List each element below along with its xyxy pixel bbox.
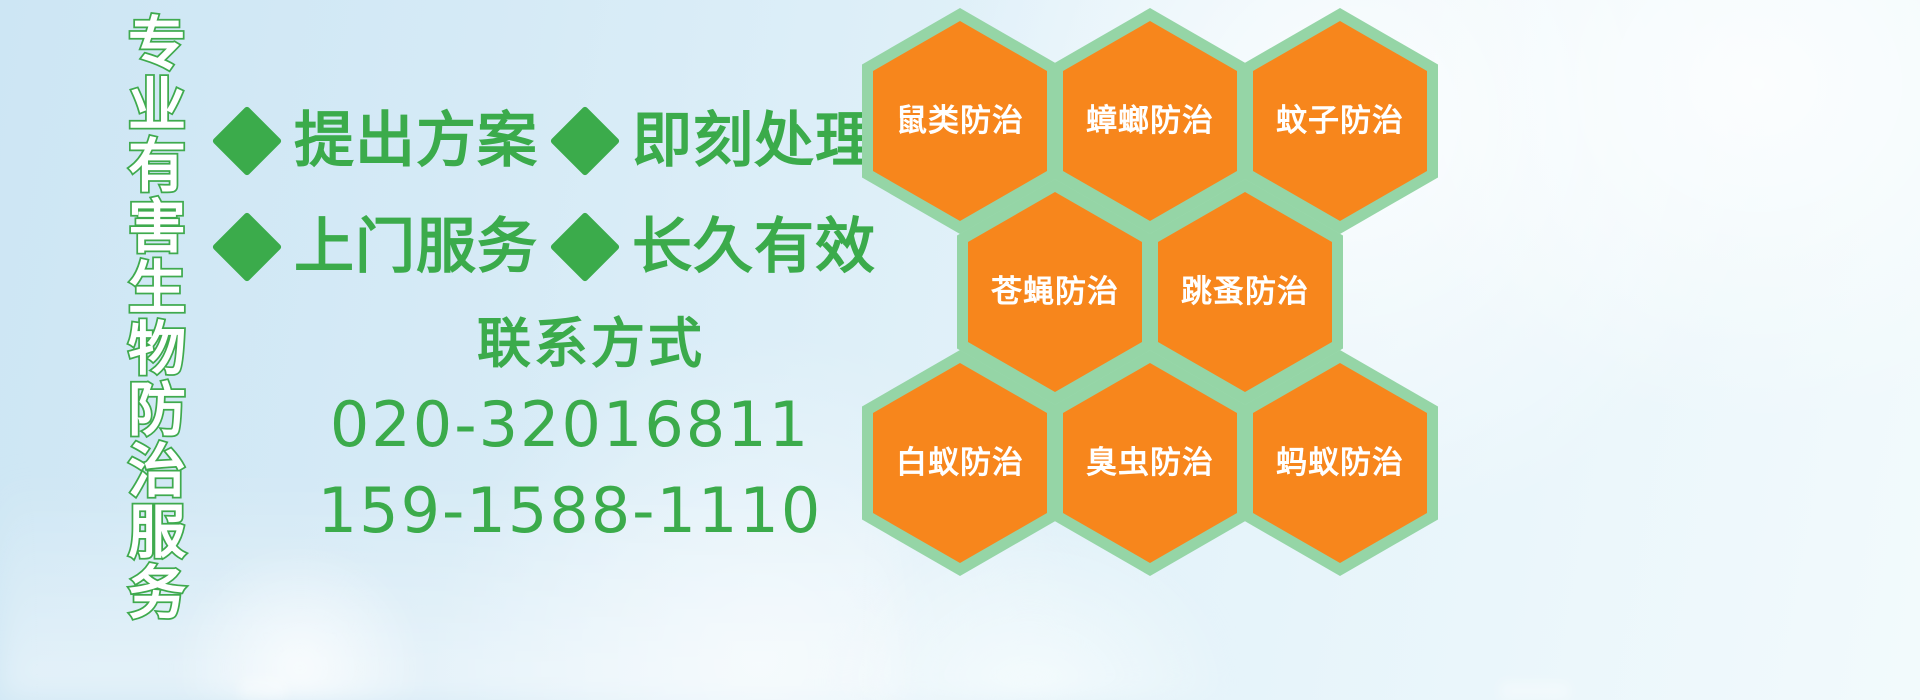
vertical-headline-char: 物: [128, 319, 186, 380]
feature-list: 提出方案 即刻处理 上门服务 长久有效: [222, 88, 882, 300]
vertical-headline: 专 业 有 害 生 物 防 治 服 务: [106, 14, 208, 574]
feature-row: 上门服务 长久有效: [222, 194, 882, 300]
feature-label: 长久有效: [632, 217, 876, 277]
contact-title: 联系方式: [222, 306, 882, 382]
vertical-headline-char: 务: [128, 563, 186, 624]
vertical-headline-char: 专: [128, 14, 186, 75]
vertical-headline-char: 防: [128, 380, 186, 441]
contact-phone-mobile[interactable]: 159-1588-1110: [222, 468, 882, 554]
hex-label: 蟑螂防治: [1052, 104, 1248, 138]
hex-label: 蚂蚁防治: [1242, 446, 1438, 480]
feature-item-door-to-door-service: 上门服务: [222, 217, 538, 277]
diamond-bullet-icon: [212, 106, 283, 177]
feature-label: 上门服务: [294, 217, 538, 277]
feature-item-propose-plan: 提出方案: [222, 111, 538, 171]
vertical-headline-char: 业: [128, 75, 186, 136]
hex-label: 跳蚤防治: [1147, 275, 1343, 309]
contact-block: 联系方式 020-32016811 159-1588-1110: [222, 306, 882, 554]
hex-label: 苍蝇防治: [957, 275, 1153, 309]
hex-label: 蚊子防治: [1242, 104, 1438, 138]
feature-row: 提出方案 即刻处理: [222, 88, 882, 194]
vertical-headline-char: 有: [128, 136, 186, 197]
hex-service-bedbug-control[interactable]: 臭虫防治: [1052, 350, 1248, 576]
feature-item-immediate-handling: 即刻处理: [560, 111, 876, 171]
vertical-headline-char: 害: [128, 197, 186, 258]
vertical-headline-char: 治: [128, 441, 186, 502]
vertical-headline-char: 服: [128, 502, 186, 563]
hex-service-ant-control[interactable]: 蚂蚁防治: [1242, 350, 1438, 576]
vertical-headline-char: 生: [128, 258, 186, 319]
hex-label: 白蚁防治: [862, 446, 1058, 480]
hex-label: 鼠类防治: [862, 104, 1058, 138]
feature-item-long-lasting-effect: 长久有效: [560, 217, 876, 277]
feature-label: 即刻处理: [632, 111, 876, 171]
hex-service-termite-control[interactable]: 白蚁防治: [862, 350, 1058, 576]
background-artifact: [240, 678, 286, 700]
contact-phone-landline[interactable]: 020-32016811: [222, 382, 882, 468]
feature-label: 提出方案: [294, 111, 538, 171]
service-honeycomb: 鼠类防治 蟑螂防治 蚊子防治 苍蝇防治 跳蚤防治 白蚁防治: [862, 8, 1462, 554]
banner-canvas: 专 业 有 害 生 物 防 治 服 务 提出方案 即刻处理 上门服务: [0, 0, 1920, 700]
hex-label: 臭虫防治: [1052, 446, 1248, 480]
diamond-bullet-icon: [550, 106, 621, 177]
diamond-bullet-icon: [212, 212, 283, 283]
background-glow-blob: [170, 540, 430, 700]
background-artifact: [1500, 682, 1570, 700]
diamond-bullet-icon: [550, 212, 621, 283]
